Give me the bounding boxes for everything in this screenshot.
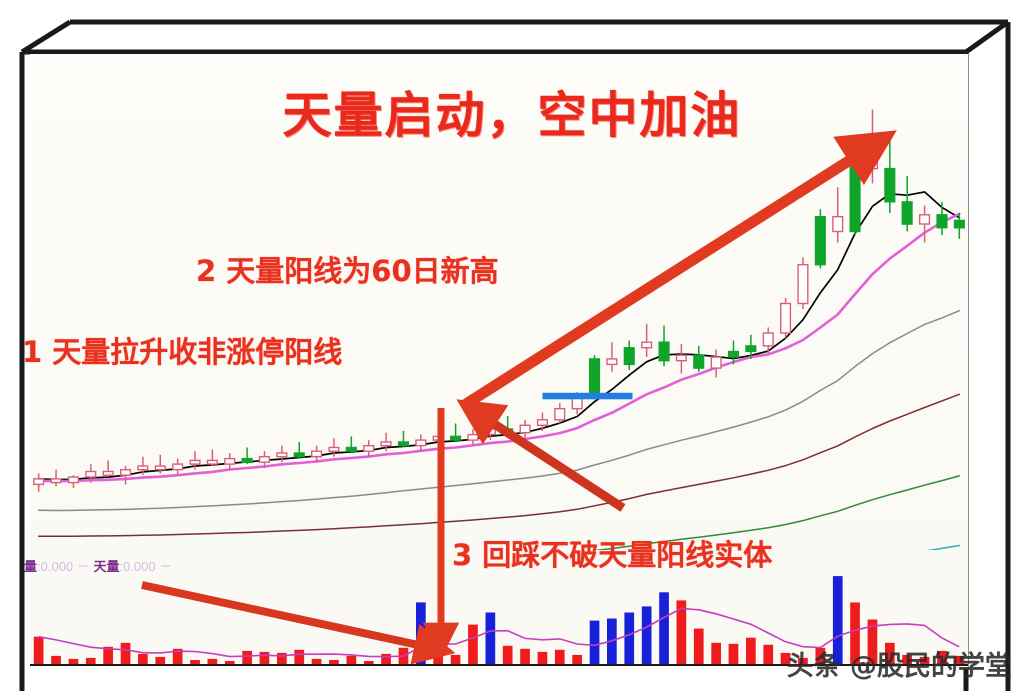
- candle: [555, 403, 565, 423]
- candle: [937, 202, 947, 235]
- tianliang-body-marker: [543, 393, 633, 400]
- volume-bar: [538, 652, 548, 665]
- candle: [520, 420, 530, 438]
- volume-legend-value-1: :0.000: [37, 559, 73, 574]
- candle: [624, 340, 634, 370]
- annotation-1: 1 天量拉升收非涨停阳线: [22, 329, 342, 371]
- volume-bar: [294, 650, 304, 665]
- candle: [208, 449, 218, 466]
- volume-legend-sep: －: [77, 559, 90, 574]
- volume-bar: [468, 625, 478, 665]
- candle: [416, 435, 426, 452]
- volume-bar: [642, 606, 652, 665]
- volume-bar: [277, 653, 287, 665]
- annotation-2: 2 天量阳线为60日新高: [196, 248, 499, 290]
- volume-bar: [763, 645, 773, 665]
- volume-bar: [746, 638, 756, 665]
- candle: [399, 431, 409, 448]
- volume-bar: [572, 655, 582, 665]
- candle: [451, 424, 461, 442]
- volume-indicator-legend: 量:0.000 － 天量:0.000 －: [24, 556, 172, 575]
- volume-bar: [486, 613, 496, 666]
- page-title: 天量启动，空中加油: [0, 76, 1024, 147]
- candle: [711, 350, 721, 378]
- volume-bar: [555, 650, 565, 665]
- candle: [833, 187, 843, 242]
- volume-bar: [711, 643, 721, 665]
- candle: [816, 209, 826, 268]
- volume-legend-label-1: 量: [24, 559, 37, 574]
- annotation-3: 3 回踩不破天量阳线实体: [452, 532, 772, 574]
- candle: [69, 475, 79, 488]
- volume-bar: [347, 656, 357, 665]
- candle: [694, 346, 704, 372]
- candle: [103, 460, 113, 477]
- volume-legend-value-2: :0.000: [119, 559, 155, 574]
- volume-legend-label-2: 天量: [93, 559, 119, 574]
- volume-bar: [590, 621, 600, 665]
- watermark: 头条 @股民的学堂: [787, 644, 1012, 683]
- volume-bar: [86, 658, 96, 665]
- candle: [364, 440, 374, 457]
- volume-bar: [155, 657, 165, 665]
- volume-bar: [242, 651, 252, 665]
- candle: [468, 429, 478, 446]
- candle: [225, 453, 235, 470]
- candle: [34, 473, 44, 491]
- candle: [347, 436, 357, 453]
- volume-legend-tail: －: [159, 559, 172, 574]
- volume-bar: [624, 613, 634, 666]
- volume-bar: [451, 655, 461, 665]
- candle: [121, 466, 131, 484]
- candle: [677, 344, 687, 374]
- volume-bar: [51, 656, 61, 665]
- candle: [173, 459, 183, 476]
- volume-bar: [34, 637, 44, 665]
- candle: [642, 324, 652, 357]
- volume-bar: [659, 592, 669, 665]
- candle: [902, 176, 912, 231]
- candle: [242, 448, 252, 465]
- candle: [51, 470, 61, 487]
- candle: [503, 416, 513, 434]
- volume-bar: [138, 654, 148, 665]
- candle: [798, 257, 808, 309]
- candle: [607, 342, 617, 372]
- volume-bar: [503, 646, 513, 665]
- candle: [850, 139, 860, 235]
- screenshot-root: 天量启动，空中加油 2 天量阳线为60日新高 1 天量拉升收非涨停阳线 3 回踩…: [0, 0, 1024, 691]
- volume-bar: [121, 643, 131, 665]
- candle: [294, 442, 304, 459]
- volume-bar: [729, 644, 739, 665]
- volume-bar: [694, 629, 704, 665]
- volume-bar: [381, 654, 391, 665]
- candle: [920, 206, 930, 243]
- volume-bar: [416, 602, 426, 665]
- candle: [659, 326, 669, 367]
- volume-bar: [260, 652, 270, 665]
- volume-bar: [520, 649, 530, 665]
- candle: [781, 298, 791, 339]
- volume-bar: [433, 644, 443, 665]
